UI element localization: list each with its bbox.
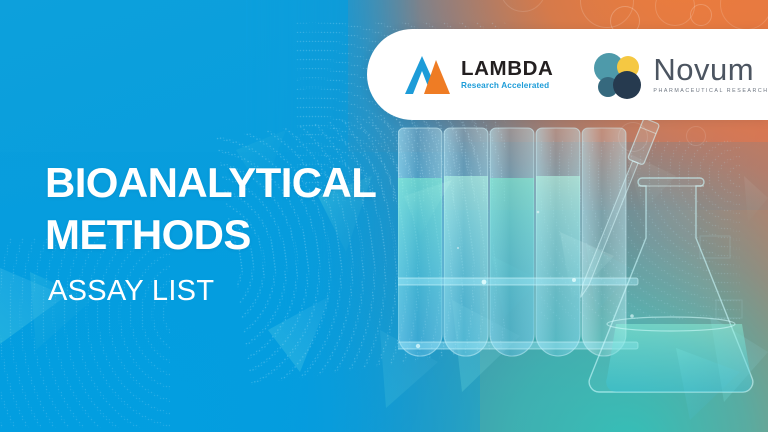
slide-canvas: BIOANALYTICAL METHODS ASSAY LIST LAMBDA … bbox=[0, 0, 768, 432]
novum-wordmark: Novum bbox=[653, 54, 768, 85]
logo-banner: LAMBDA Research Accelerated Novum PHARMA… bbox=[367, 29, 768, 120]
novum-tagline: PHARMACEUTICAL RESEARCH SERVICES bbox=[653, 89, 768, 94]
lab-glassware-illustration bbox=[398, 120, 768, 432]
title-line-2: METHODS bbox=[45, 209, 376, 261]
page-subtitle: ASSAY LIST bbox=[48, 275, 214, 308]
novum-circles-icon bbox=[592, 51, 644, 99]
lambda-triangle-icon bbox=[405, 54, 451, 96]
lambda-wordmark: LAMBDA bbox=[461, 59, 553, 80]
title-line-1: BIOANALYTICAL bbox=[45, 157, 376, 209]
lambda-logo[interactable]: LAMBDA Research Accelerated bbox=[405, 54, 553, 96]
page-title: BIOANALYTICAL METHODS bbox=[45, 157, 376, 261]
lambda-tagline: Research Accelerated bbox=[461, 82, 553, 90]
novum-logo[interactable]: Novum PHARMACEUTICAL RESEARCH SERVICES bbox=[592, 51, 768, 99]
